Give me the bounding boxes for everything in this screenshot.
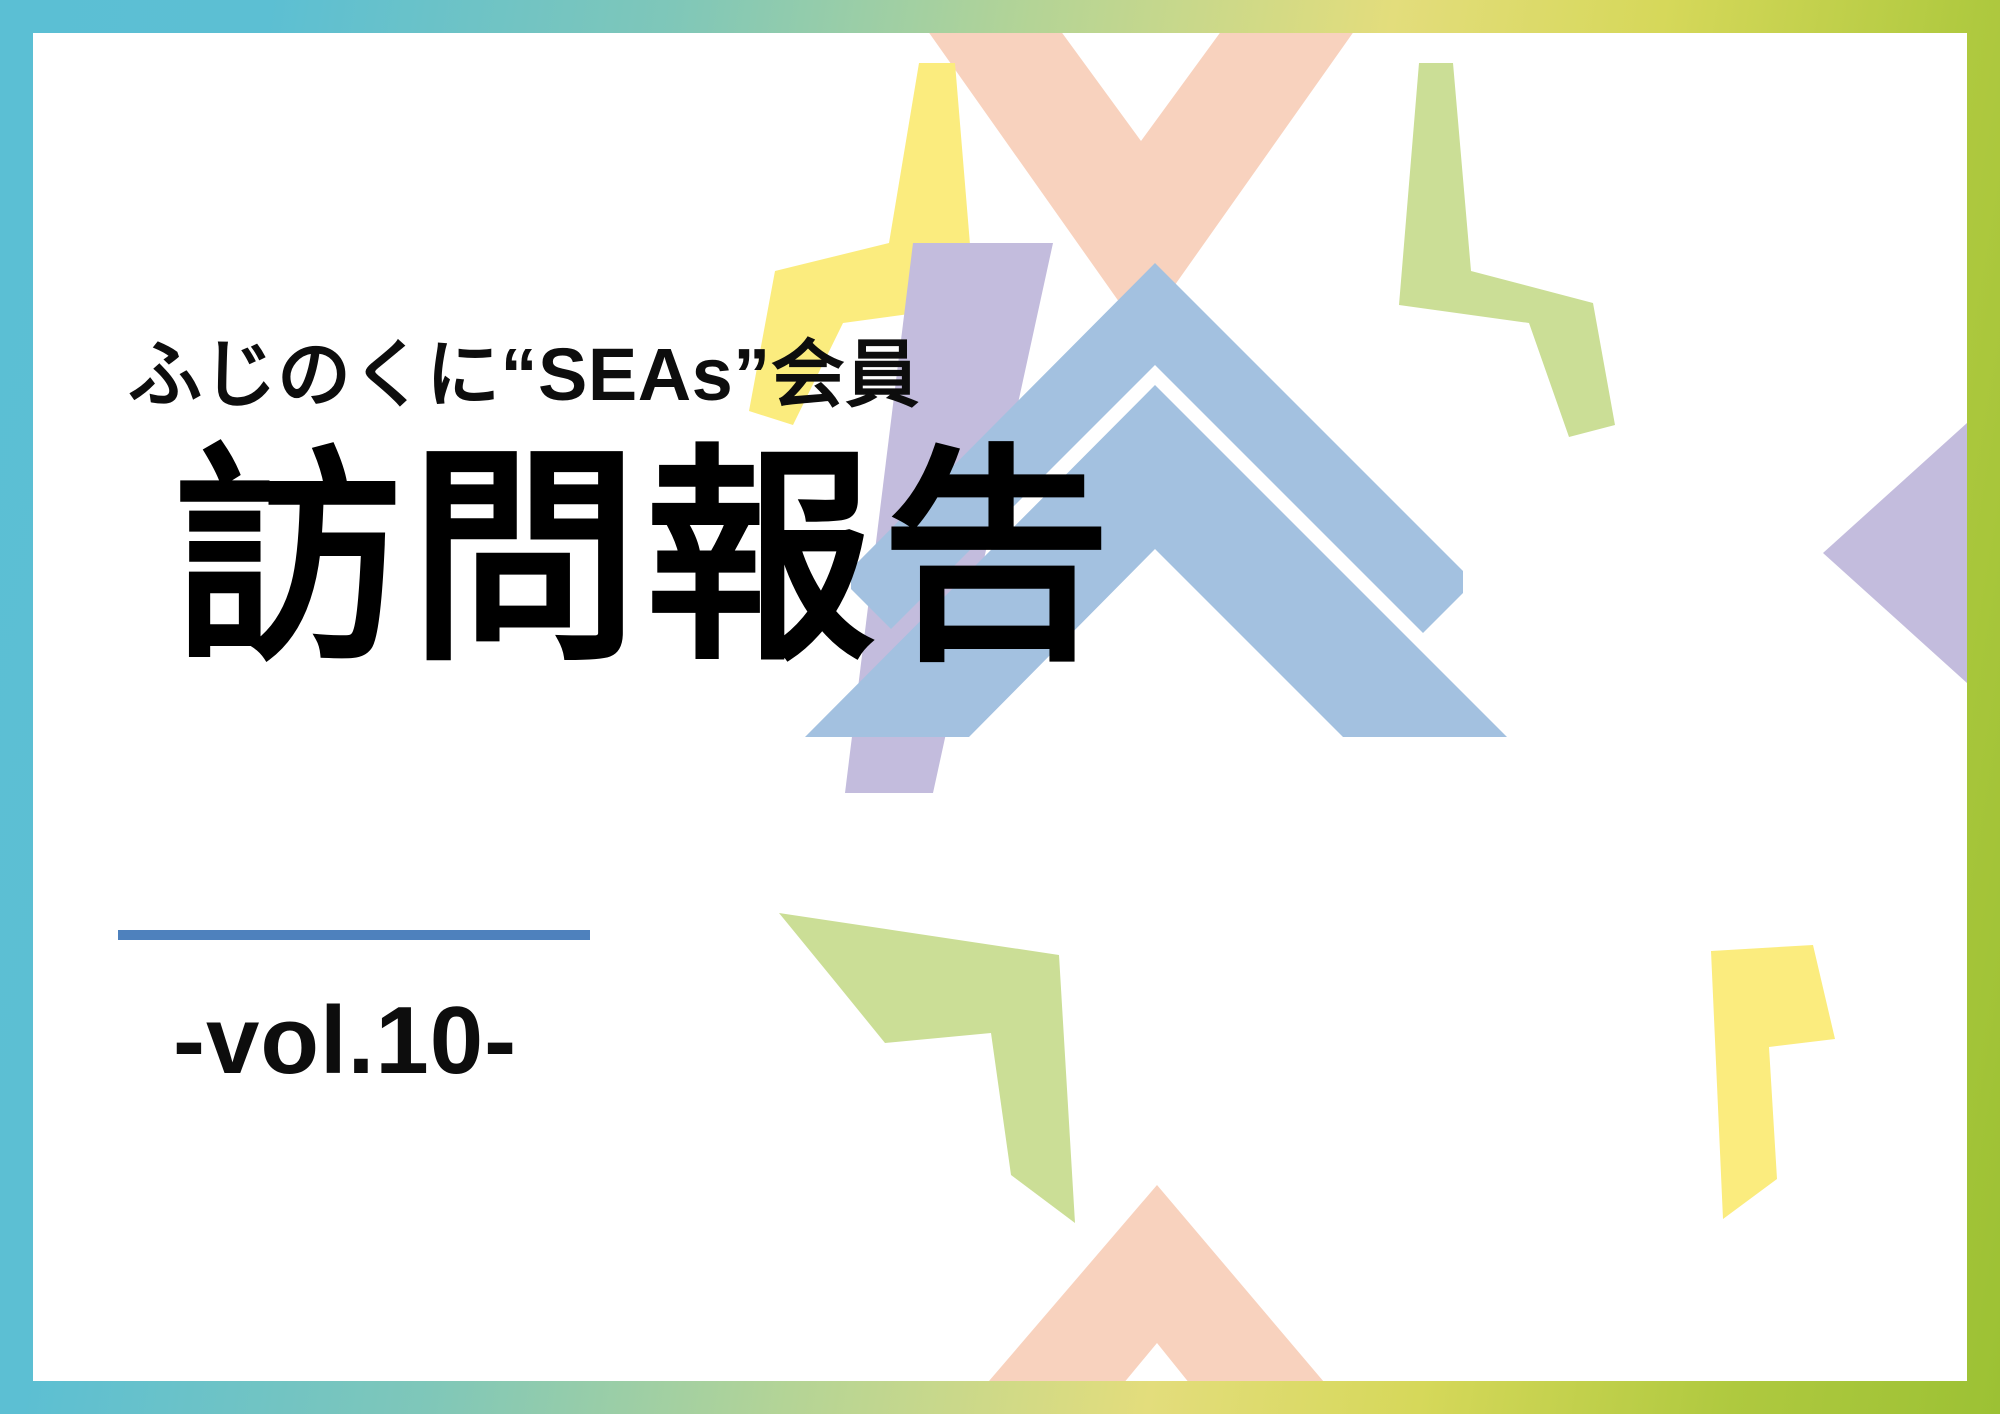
title-text-block: ふじのくに“SEAs”会員 訪問報告 -vol.10- xyxy=(33,33,1967,1381)
slide-canvas: ふじのくに“SEAs”会員 訪問報告 -vol.10- xyxy=(0,0,2000,1414)
subtitle-text: ふじのくに“SEAs”会員 xyxy=(128,338,920,412)
slide-content-area: ふじのくに“SEAs”会員 訪問報告 -vol.10- xyxy=(33,33,1967,1381)
blue-divider-rule xyxy=(118,930,590,940)
page-title: 訪問報告 xyxy=(173,438,1117,680)
volume-label: -vol.10- xyxy=(173,993,517,1089)
